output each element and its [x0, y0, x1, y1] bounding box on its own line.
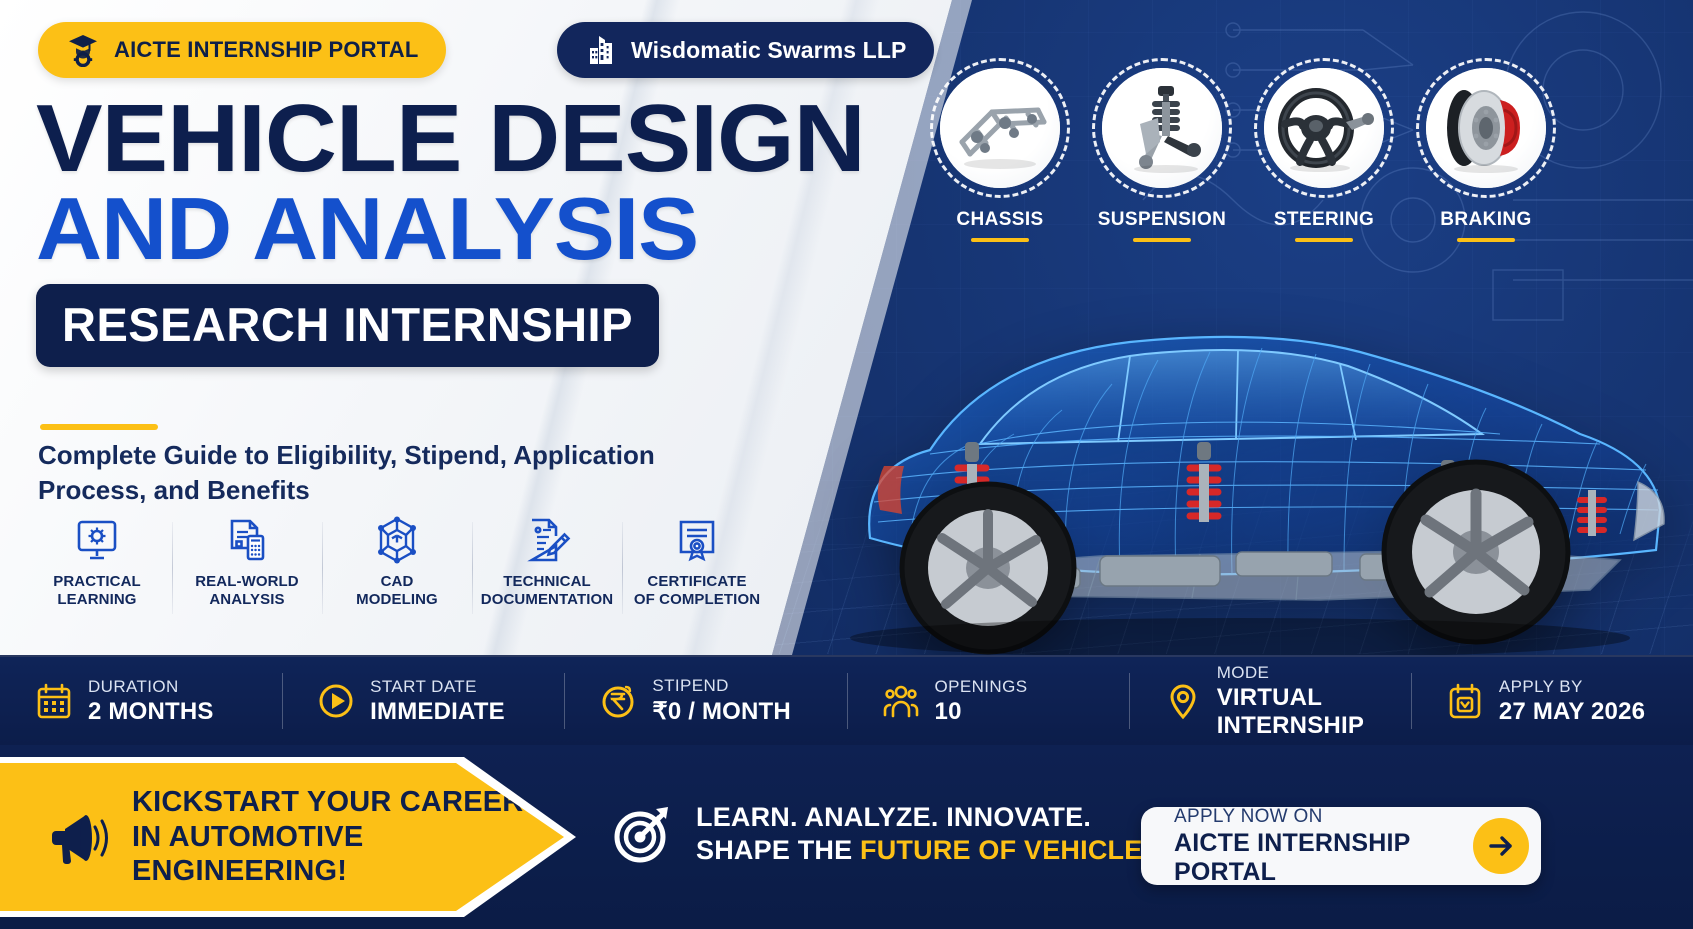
info-item-start-date: START DATE IMMEDIATE: [282, 673, 564, 729]
company-badge-label: Wisdomatic Swarms LLP: [631, 37, 906, 64]
component-circle-frame: [930, 58, 1070, 198]
certificate-icon: [673, 516, 721, 564]
component-label: BRAKING: [1440, 209, 1531, 231]
cad-cube-icon: [373, 516, 421, 564]
kickstart-arrow-fill: KICKSTART YOUR CAREERIN AUTOMOTIVE ENGIN…: [0, 763, 564, 911]
kickstart-arrow-banner: KICKSTART YOUR CAREERIN AUTOMOTIVE ENGIN…: [0, 757, 576, 917]
chassis-frame-icon: [948, 76, 1052, 180]
component-label: CHASSIS: [956, 209, 1043, 231]
document-pencil-icon: [523, 516, 571, 564]
company-badge[interactable]: Wisdomatic Swarms LLP: [557, 22, 934, 78]
apply-button-line-1: APPLY NOW ON: [1174, 806, 1473, 828]
target-dart-icon: [612, 803, 674, 865]
kickstart-text: KICKSTART YOUR CAREERIN AUTOMOTIVE ENGIN…: [132, 785, 564, 889]
apply-button-line-2: AICTE INTERNSHIP PORTAL: [1174, 829, 1473, 887]
feature-label: REAL-WORLDANALYSIS: [195, 573, 298, 608]
aicte-badge-label: AICTE INTERNSHIP PORTAL: [114, 37, 418, 63]
info-strip: DURATION 2 MONTHS START DATE IMMEDIATE S…: [0, 655, 1693, 745]
building-icon: [585, 34, 617, 66]
location-pin-icon: [1163, 681, 1203, 721]
info-value: IMMEDIATE: [370, 698, 505, 726]
arrow-right-icon: [1486, 831, 1516, 861]
info-text: STIPEND ₹0 / MONTH: [652, 676, 791, 726]
info-item-openings: OPENINGS 10: [847, 673, 1129, 729]
feature-label: TECHNICALDOCUMENTATION: [481, 573, 613, 608]
component-circle-frame: [1092, 58, 1232, 198]
headline-line-2: AND ANALYSIS: [36, 189, 865, 270]
document-calculator-icon: [223, 516, 271, 564]
component-label: SUSPENSION: [1098, 209, 1227, 231]
feature-label: CADMODELING: [356, 573, 438, 608]
info-label: MODE: [1217, 663, 1411, 683]
component-chassis[interactable]: CHASSIS: [930, 58, 1070, 242]
play-circle-icon: [316, 681, 356, 721]
info-item-duration: DURATION 2 MONTHS: [0, 673, 282, 729]
info-text: APPLY BY 27 MAY 2026: [1499, 677, 1645, 726]
megaphone-icon: [48, 805, 112, 869]
info-item-apply-by: APPLY BY 27 MAY 2026: [1411, 673, 1693, 729]
steering-wheel-icon: [1272, 76, 1376, 180]
feature-label: PRACTICALLEARNING: [53, 573, 141, 608]
promotional-banner: AICTE INTERNSHIP PORTAL Wisdomatic Swarm…: [0, 0, 1693, 929]
info-value: ₹0 / MONTH: [652, 697, 791, 726]
feature-item-technical-documentation: TECHNICALDOCUMENTATION: [472, 516, 622, 608]
calendar-icon: [34, 681, 74, 721]
component-braking[interactable]: BRAKING: [1416, 58, 1556, 242]
component-label: STEERING: [1274, 209, 1374, 231]
info-item-stipend: STIPEND ₹0 / MONTH: [564, 673, 846, 729]
info-text: START DATE IMMEDIATE: [370, 677, 505, 726]
info-text: MODE VIRTUAL INTERNSHIP: [1217, 663, 1411, 740]
info-label: APPLY BY: [1499, 677, 1645, 697]
info-item-mode: MODE VIRTUAL INTERNSHIP: [1129, 673, 1411, 729]
info-text: DURATION 2 MONTHS: [88, 677, 214, 726]
monitor-gear-icon: [73, 516, 121, 564]
subtitle-text: Complete Guide to Eligibility, Stipend, …: [38, 438, 678, 507]
wireframe-car-illustration: [800, 238, 1693, 658]
cta-bar: KICKSTART YOUR CAREERIN AUTOMOTIVE ENGIN…: [0, 745, 1693, 929]
headline-line-1: VEHICLE DESIGN: [36, 95, 865, 183]
aicte-portal-badge[interactable]: AICTE INTERNSHIP PORTAL: [38, 22, 446, 78]
graduation-gear-icon: [66, 33, 100, 67]
apply-button-arrow-circle[interactable]: [1473, 818, 1529, 874]
feature-label: CERTIFICATEOF COMPLETION: [634, 573, 760, 608]
feature-strip: PRACTICALLEARNING REAL-WORLDANALYSIS: [22, 516, 772, 608]
info-value: 27 MAY 2026: [1499, 698, 1645, 726]
info-text: OPENINGS 10: [935, 677, 1028, 726]
component-circles-row: CHASSIS: [930, 58, 1550, 242]
info-value: 10: [935, 698, 1028, 726]
suspension-strut-icon: [1110, 76, 1214, 180]
feature-item-certificate: CERTIFICATEOF COMPLETION: [622, 516, 772, 608]
component-steering[interactable]: STEERING: [1254, 58, 1394, 242]
info-value: VIRTUAL INTERNSHIP: [1217, 684, 1411, 740]
brake-disc-icon: [1434, 76, 1538, 180]
feature-item-practical-learning: PRACTICALLEARNING: [22, 516, 172, 608]
headline-block: VEHICLE DESIGN AND ANALYSIS RESEARCH INT…: [36, 95, 833, 367]
info-label: STIPEND: [652, 676, 791, 696]
feature-item-cad-modeling: CADMODELING: [322, 516, 472, 608]
component-circle-frame: [1254, 58, 1394, 198]
headline-pill: RESEARCH INTERNSHIP: [36, 284, 659, 367]
info-label: DURATION: [88, 677, 214, 697]
calendar-check-icon: [1445, 681, 1485, 721]
yellow-divider-rule: [40, 424, 158, 430]
info-value: 2 MONTHS: [88, 698, 214, 726]
feature-item-real-world-analysis: REAL-WORLDANALYSIS: [172, 516, 322, 608]
people-icon: [881, 681, 921, 721]
component-circle-frame: [1416, 58, 1556, 198]
apply-button-text: APPLY NOW ON AICTE INTERNSHIP PORTAL: [1174, 806, 1473, 887]
apply-now-button[interactable]: APPLY NOW ON AICTE INTERNSHIP PORTAL: [1141, 807, 1541, 885]
info-label: OPENINGS: [935, 677, 1028, 697]
info-label: START DATE: [370, 677, 505, 697]
component-suspension[interactable]: SUSPENSION: [1092, 58, 1232, 242]
rupee-circle-icon: [598, 681, 638, 721]
